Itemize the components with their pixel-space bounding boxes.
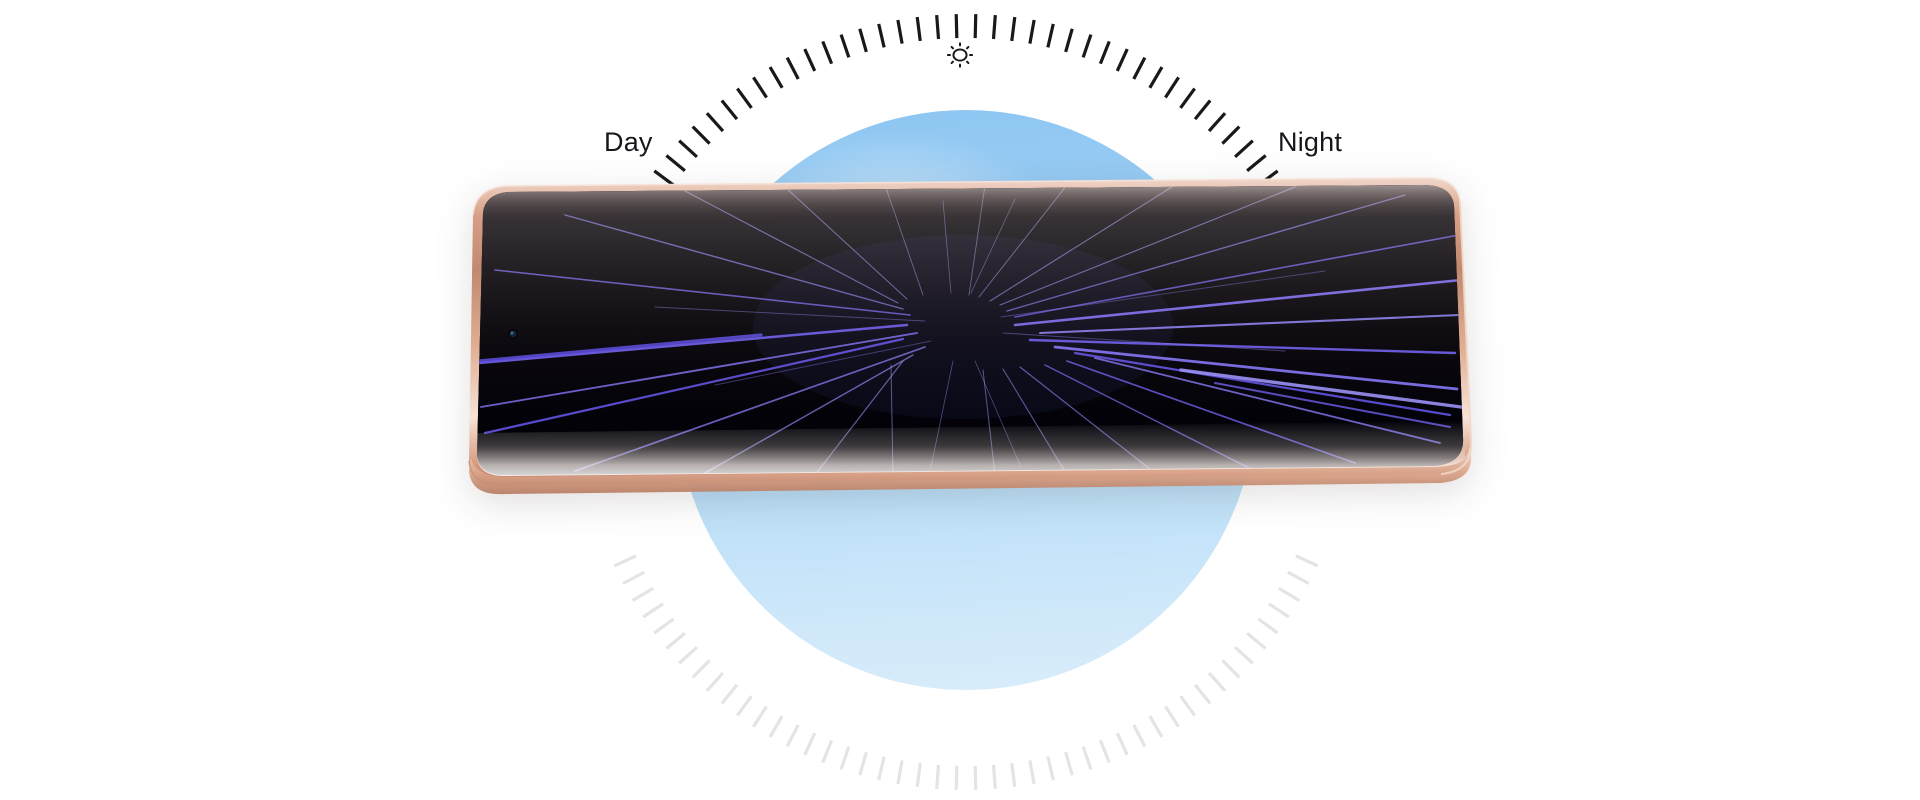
dial-tick [1030,760,1034,784]
dial-tick [841,747,849,770]
dial-tick [1048,24,1053,47]
smartphone-render [455,175,1475,495]
dial-tick [693,127,710,144]
dial-tick [1083,747,1091,770]
dial-tick [654,619,673,633]
dial-tick [679,141,697,157]
dial-tick [1247,633,1266,648]
dial-tick [1181,89,1195,108]
dial-tick [1235,647,1253,663]
dial-tick [879,24,884,47]
dial-tick [722,100,737,119]
dial-tick [937,765,939,789]
dial-tick [1209,113,1225,131]
dial-tick [693,660,710,677]
dial-tick [1165,77,1178,97]
dial-tick [707,113,723,131]
dial-tick [823,41,832,63]
dial-tick [1066,29,1073,52]
dial-tick [975,766,976,790]
dial-tick [1269,604,1289,617]
dial-tick [1030,20,1034,44]
dial-tick [1247,155,1266,170]
dial-tick [1150,67,1162,88]
dial-tick [1181,696,1195,715]
dial-tick [770,716,782,737]
smartphone[interactable] [455,175,1475,495]
dial-tick [1150,716,1162,737]
night-label: Night [1278,127,1342,158]
dial-tick [1100,41,1109,63]
dial-tick [707,673,723,691]
dial-tick [917,763,920,787]
dial-tick [975,14,976,38]
dial-tick [994,765,996,789]
dial-tick [643,604,663,617]
dial-tick [633,588,654,600]
dial-tick [917,17,920,41]
dial-tick [956,14,957,38]
dial-tick [1222,660,1239,677]
dial-tick [805,49,815,71]
scene-root: Day Night [0,0,1920,800]
dial-tick [753,77,766,97]
dial-tick [1222,127,1239,144]
dial-tick [1012,17,1015,41]
dial-tick [737,89,751,108]
punch-hole-camera [508,329,519,340]
day-label: Day [604,127,653,158]
dial-tick [1279,588,1300,600]
dial-tick [753,707,766,727]
dial-tick [1100,740,1109,762]
dial-tick [1195,685,1210,704]
dial-tick [1235,141,1253,157]
dial-tick [770,67,782,88]
dial-tick [787,725,798,746]
dial-tick [1296,556,1318,566]
dial-tick [1117,733,1127,755]
dial-tick [1083,35,1091,58]
dial-tick [722,685,737,704]
dial-tick [1209,673,1225,691]
dial-tick [666,633,685,648]
dial-tick [1134,58,1145,79]
dial-tick [1165,707,1178,727]
dial-tick [823,740,832,762]
dial-tick [666,155,685,170]
dial-tick [1117,49,1127,71]
dial-tick [879,757,884,780]
dial-tick [1048,757,1053,780]
dial-tick [623,572,644,583]
dial-tick [860,752,867,775]
sun-icon [945,40,975,70]
dial-tick [898,760,902,784]
dial-tick [860,29,867,52]
dial-tick [937,15,939,39]
dial-tick [1012,763,1015,787]
dial-tick [1288,572,1309,583]
dial-tick [787,58,798,79]
dial-tick [679,647,697,663]
dial-tick [994,15,996,39]
dial-tick [805,733,815,755]
dial-tick [956,766,957,790]
dial-tick [614,556,636,566]
dial-tick [898,20,902,44]
dial-tick [1066,752,1073,775]
dial-tick [1258,619,1277,633]
dial-tick [737,696,751,715]
dial-tick [1195,100,1210,119]
dial-tick [1134,725,1145,746]
dial-tick [841,35,849,58]
